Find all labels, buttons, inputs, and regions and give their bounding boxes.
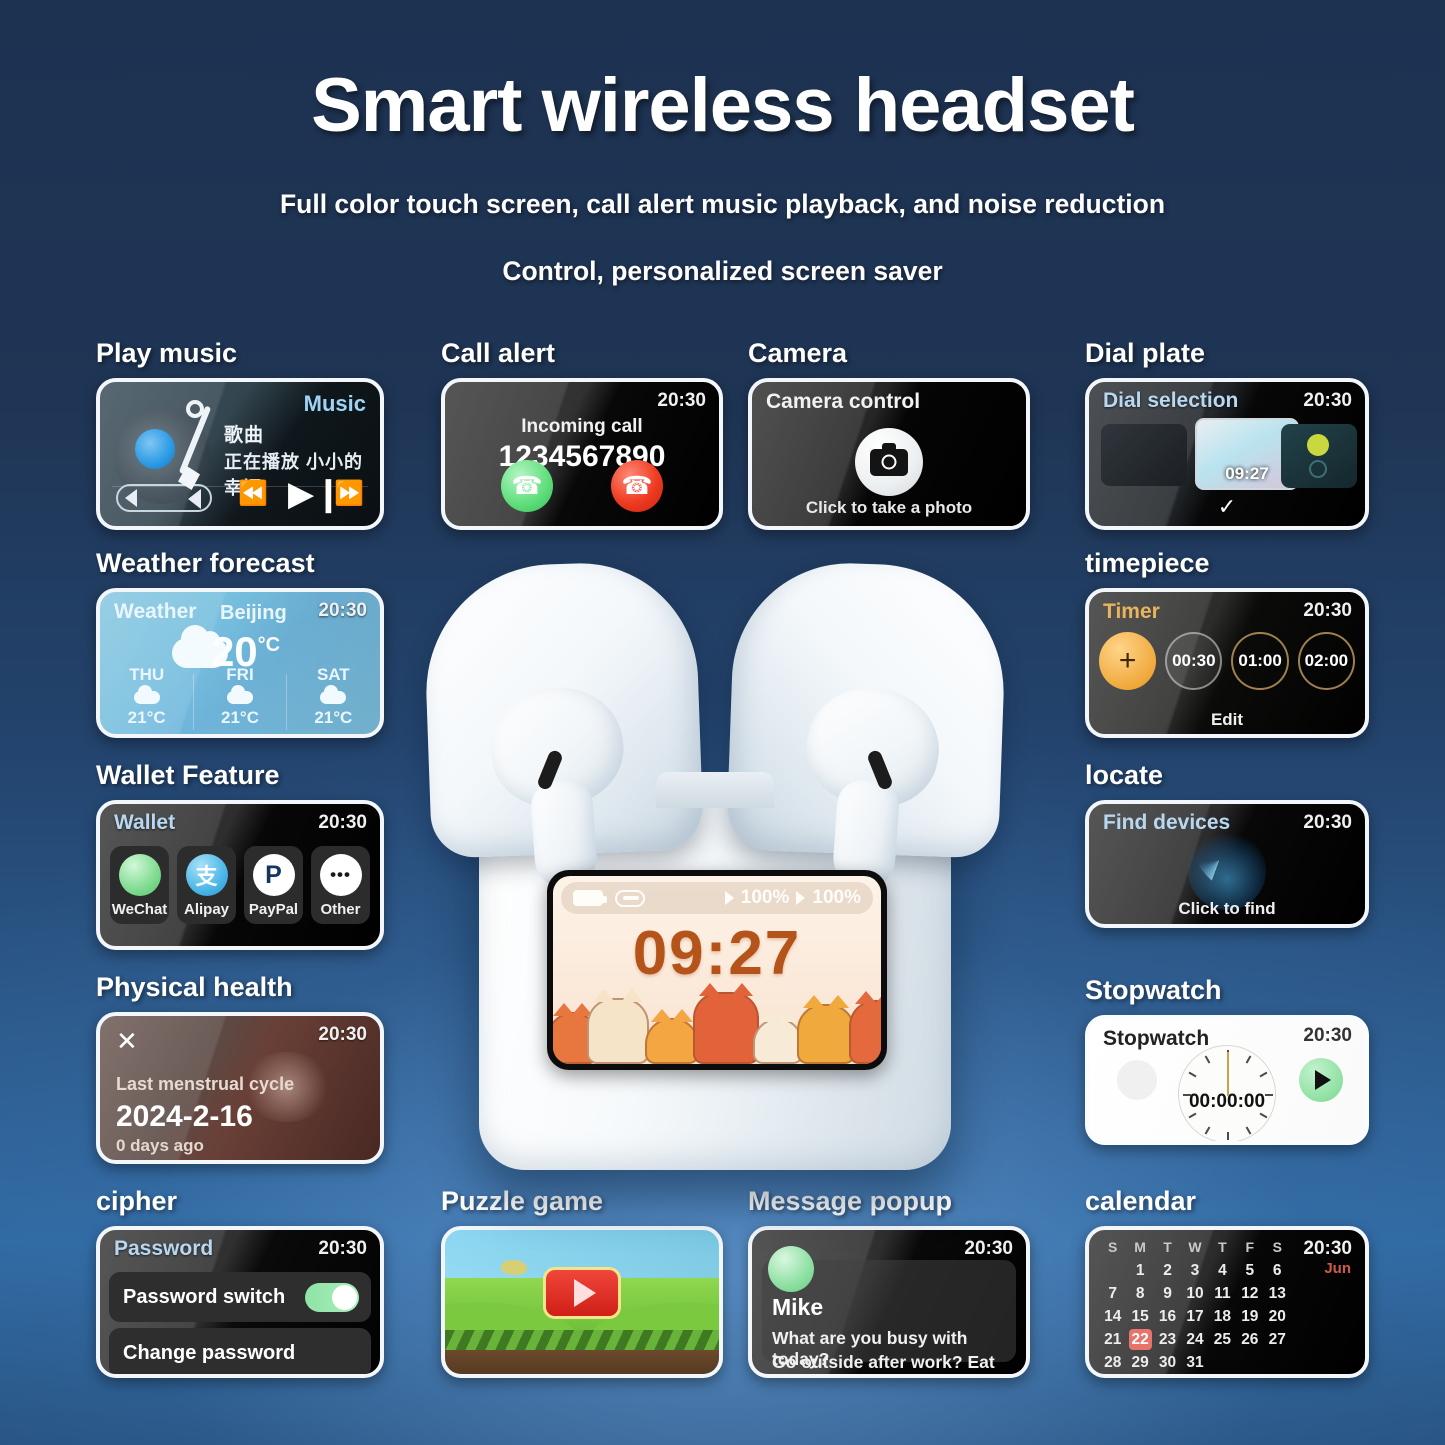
message-sender: Mike <box>772 1294 823 1321</box>
timer-edit-button[interactable]: Edit <box>1089 710 1365 730</box>
calendar-day[interactable]: 3 <box>1181 1259 1208 1282</box>
forecast-day-name: THU <box>100 665 193 685</box>
forecast-day: THU 21°C <box>100 665 193 728</box>
caption-camera: Camera <box>748 338 1030 369</box>
calendar-dow: S <box>1264 1236 1291 1259</box>
password-switch-row[interactable]: Password switch <box>109 1272 371 1322</box>
password-label: Password <box>114 1237 213 1261</box>
calendar-day[interactable]: 11 <box>1209 1282 1236 1305</box>
calendar-day[interactable]: 9 <box>1154 1282 1181 1305</box>
caption-locate: locate <box>1085 760 1369 791</box>
wallet-item-other[interactable]: ••• Other <box>311 846 370 924</box>
feature-physical-health: Physical health ✕ 20:30 Last menstrual c… <box>96 972 384 1164</box>
calendar-day[interactable]: 16 <box>1154 1305 1181 1328</box>
calendar-dow: M <box>1126 1236 1153 1259</box>
battery-icon <box>573 890 603 906</box>
calendar-day[interactable]: 6 <box>1264 1259 1291 1282</box>
caller-number: 1234567890 <box>445 440 719 474</box>
caption-puzzle-game: Puzzle game <box>441 1186 723 1217</box>
password-switch-label: Password switch <box>123 1286 285 1309</box>
forecast-day-temp: 21°C <box>193 708 286 728</box>
screen-locate[interactable]: Find devices 20:30 Click to find <box>1085 800 1369 928</box>
calendar-day[interactable]: 5 <box>1236 1259 1263 1282</box>
calendar-month-badge: Jun <box>1324 1260 1351 1277</box>
calendar-week-row: 123456 <box>1099 1259 1291 1282</box>
previous-icon[interactable]: ⏪ <box>238 479 268 508</box>
dial-title: Dial selection <box>1103 389 1238 413</box>
caption-timepiece: timepiece <box>1085 548 1369 579</box>
stopwatch-label: Stopwatch <box>1103 1027 1209 1051</box>
volume-high-icon <box>188 489 201 509</box>
calendar-day[interactable]: 25 <box>1209 1328 1236 1351</box>
dial-tick <box>1260 1072 1268 1078</box>
phone-hangup-icon[interactable]: ☎ <box>611 460 663 512</box>
header: Smart wireless headset Full color touch … <box>0 0 1445 287</box>
feature-locate: locate Find devices 20:30 Click to find <box>1085 760 1369 928</box>
screen-cipher[interactable]: Password 20:30 Password switch Change pa… <box>96 1226 384 1378</box>
cloud-icon <box>134 691 160 704</box>
subtitle-line-2: Control, personalized screen saver <box>0 256 1445 287</box>
timer-preset-button[interactable]: 01:00 <box>1231 632 1288 690</box>
calendar-week-row: SMTWTFS <box>1099 1236 1291 1259</box>
wallet-items-row: WeChat 支 Alipay P PayPal ••• Other <box>110 846 370 924</box>
dial-tick <box>1246 1127 1252 1135</box>
play-icon[interactable] <box>1299 1058 1343 1102</box>
calendar-day[interactable]: 7 <box>1099 1282 1126 1305</box>
screen-puzzle-game[interactable] <box>441 1226 723 1378</box>
tonearm-pivot-icon <box>186 400 204 418</box>
feature-weather-forecast: Weather forecast Weather Beijing 20:30 2… <box>96 548 384 738</box>
earbud-left-icon <box>725 891 734 905</box>
calendar-day[interactable]: 26 <box>1236 1328 1263 1351</box>
calendar-week-row: 21222324252627 <box>1099 1328 1291 1351</box>
music-label: Music <box>304 391 366 417</box>
calendar-day[interactable]: 15 <box>1126 1305 1153 1328</box>
dial-thumbnail-left[interactable] <box>1101 424 1187 486</box>
calendar-day[interactable]: 8 <box>1126 1282 1153 1305</box>
calendar-grid[interactable]: SMTWTFS123456789101112131415161718192021… <box>1099 1236 1291 1374</box>
wireless-earbuds-case: 100% 100% 09:27 <box>415 560 1015 1180</box>
dial-tick <box>1205 1056 1211 1064</box>
health-days-ago: 0 days ago <box>116 1136 204 1156</box>
health-label: Last menstrual cycle <box>116 1074 294 1095</box>
calendar-day[interactable]: 14 <box>1099 1305 1126 1328</box>
calendar-day[interactable]: 31 <box>1181 1351 1208 1374</box>
feature-dial-plate: Dial plate Dial selection 20:30 09:27 ✓ <box>1085 338 1369 530</box>
forecast-row: THU 21°C FRI 21°C SAT 21°C <box>100 665 380 728</box>
cartoon-cats-wallpaper <box>553 976 881 1064</box>
wallet-item-label: Alipay <box>177 901 236 918</box>
dial-tick <box>1183 1094 1191 1096</box>
battery-right-value: 100% <box>812 887 861 909</box>
calendar-day[interactable]: 30 <box>1154 1351 1181 1374</box>
battery-readouts: 100% 100% <box>725 887 861 909</box>
caption-dial-plate: Dial plate <box>1085 338 1369 369</box>
dial-tick <box>1260 1113 1268 1119</box>
forecast-day-name: FRI <box>193 665 286 685</box>
screen-message-popup[interactable]: 20:30 Mike What are you busy with today?… <box>748 1226 1030 1378</box>
calendar-day[interactable]: 12 <box>1236 1282 1263 1305</box>
calendar-dow: S <box>1099 1236 1126 1259</box>
feature-timepiece: timepiece Timer 20:30 + 00:30 01:00 02:0… <box>1085 548 1369 738</box>
wallet-item-paypal[interactable]: P PayPal <box>244 846 303 924</box>
calendar-day[interactable]: 17 <box>1181 1305 1208 1328</box>
plus-icon[interactable]: + <box>1099 632 1156 690</box>
case-display[interactable]: 100% 100% 09:27 <box>547 870 887 1070</box>
volume-low-icon <box>125 489 137 507</box>
wechat-icon <box>119 854 161 896</box>
temp-unit: °C <box>258 634 280 656</box>
caption-message-popup: Message popup <box>748 1186 1030 1217</box>
subtitle-line-1: Full color touch screen, call alert musi… <box>0 189 1445 220</box>
feature-stopwatch: Stopwatch Stopwatch 20:30 00:00:00 <box>1085 975 1369 1145</box>
cat-sprite-icon <box>849 1000 881 1064</box>
caption-stopwatch: Stopwatch <box>1085 975 1369 1006</box>
cat-sprite-icon <box>797 1004 855 1064</box>
status-clock: 20:30 <box>1303 390 1352 412</box>
wallet-item-wechat[interactable]: WeChat <box>110 846 169 924</box>
status-clock: 20:30 <box>657 390 706 412</box>
wallet-item-label: Other <box>311 901 370 918</box>
status-clock: 20:30 <box>1303 600 1352 622</box>
calendar-day[interactable]: 27 <box>1264 1328 1291 1351</box>
volume-slider[interactable] <box>116 484 212 512</box>
status-clock: 20:30 <box>318 1238 367 1260</box>
caption-call-alert: Call alert <box>441 338 723 369</box>
bird-sprite-icon <box>501 1260 527 1275</box>
phone-answer-icon[interactable]: ☎ <box>501 460 553 512</box>
forecast-day: SAT 21°C <box>287 665 380 728</box>
password-toggle[interactable] <box>305 1283 359 1312</box>
feature-call-alert: Call alert 20:30 Incoming call 123456789… <box>441 338 723 530</box>
caption-weather: Weather forecast <box>96 548 384 579</box>
calendar-day[interactable] <box>1209 1351 1236 1374</box>
stopwatch-dial: 00:00:00 <box>1178 1045 1276 1143</box>
calendar-day[interactable]: 1 <box>1126 1259 1153 1282</box>
calendar-day[interactable]: 20 <box>1264 1305 1291 1328</box>
calendar-day[interactable]: 28 <box>1099 1351 1126 1374</box>
status-clock: 20:30 <box>964 1238 1013 1260</box>
display-status-bar: 100% 100% <box>561 882 873 914</box>
camera-hint: Click to take a photo <box>752 498 1026 518</box>
caption-calendar: calendar <box>1085 1186 1369 1217</box>
calendar-day[interactable]: 4 <box>1209 1259 1236 1282</box>
change-password-row[interactable]: Change password <box>109 1328 371 1378</box>
feature-wallet: Wallet Feature Wallet 20:30 WeChat 支 Ali… <box>96 760 384 950</box>
feature-cipher: cipher Password 20:30 Password switch Ch… <box>96 1186 384 1378</box>
wallet-item-alipay[interactable]: 支 Alipay <box>177 846 236 924</box>
close-icon[interactable]: ✕ <box>116 1028 138 1054</box>
calendar-week-row: 78910111213 <box>1099 1282 1291 1305</box>
stopwatch-needle-icon <box>1227 1052 1229 1096</box>
screen-weather[interactable]: Weather Beijing 20:30 20°C THU 21°C FRI … <box>96 588 384 738</box>
screen-timepiece[interactable]: Timer 20:30 + 00:30 01:00 02:00 Edit <box>1085 588 1369 738</box>
calendar-dow: T <box>1154 1236 1181 1259</box>
dial-dot-icon <box>1307 434 1329 456</box>
calendar-day[interactable] <box>1264 1351 1291 1374</box>
forecast-day: FRI 21°C <box>193 665 286 728</box>
status-clock: 20:30 <box>1303 812 1352 834</box>
calendar-day[interactable]: 2 <box>1154 1259 1181 1282</box>
calendar-day[interactable]: 29 <box>1126 1351 1153 1374</box>
caption-wallet: Wallet Feature <box>96 760 384 791</box>
page-title: Smart wireless headset <box>0 62 1445 149</box>
paypal-icon: P <box>253 854 295 896</box>
status-clock: 20:30 <box>1303 1025 1352 1047</box>
camera-title: Camera control <box>766 390 920 414</box>
dial-ring-icon <box>1309 460 1327 478</box>
camera-lens-icon <box>882 455 897 470</box>
link-icon <box>615 890 645 907</box>
vinyl-center-icon <box>135 429 175 469</box>
display-time: 09:27 <box>553 918 881 989</box>
message-line-2: Go outside after work? Eat corn <box>772 1352 1026 1378</box>
camera-body-icon <box>870 449 908 476</box>
calendar-day[interactable]: 22 <box>1126 1328 1153 1351</box>
calendar-week-row: 28293031 <box>1099 1351 1291 1374</box>
weather-city: Beijing <box>220 602 287 625</box>
battery-left-value: 100% <box>741 887 790 909</box>
screen-stopwatch[interactable]: Stopwatch 20:30 00:00:00 <box>1085 1015 1369 1145</box>
screen-camera[interactable]: Camera control Click to take a photo <box>748 378 1030 530</box>
calendar-dow: F <box>1236 1236 1263 1259</box>
screen-play-music[interactable]: Music 歌曲 正在播放 小小的幸福 ⏪ ▶❙ ⏩ <box>96 378 384 530</box>
wallet-item-label: WeChat <box>110 901 169 918</box>
feature-puzzle-game: Puzzle game <box>441 1186 723 1378</box>
camera-icon[interactable] <box>855 428 923 496</box>
caption-physical-health: Physical health <box>96 972 384 1003</box>
calendar-week-row: 14151617181920 <box>1099 1305 1291 1328</box>
feature-message-popup: Message popup 20:30 Mike What are you bu… <box>748 1186 1030 1378</box>
lap-button-icon[interactable] <box>1117 1060 1157 1100</box>
soil-strip <box>445 1350 719 1374</box>
dial-thumbnail-right[interactable] <box>1281 424 1357 488</box>
calendar-dow: W <box>1181 1236 1208 1259</box>
alipay-icon: 支 <box>186 854 228 896</box>
calendar-day[interactable]: 13 <box>1264 1282 1291 1305</box>
cat-sprite-icon <box>587 998 649 1064</box>
cloud-icon <box>320 691 346 704</box>
change-password-label: Change password <box>123 1342 295 1365</box>
dial-tick <box>1265 1094 1273 1096</box>
calendar-day[interactable]: 24 <box>1181 1328 1208 1351</box>
play-button-icon[interactable] <box>543 1267 621 1319</box>
dial-tick <box>1227 1132 1229 1140</box>
caption-cipher: cipher <box>96 1186 384 1217</box>
screen-call-alert[interactable]: 20:30 Incoming call 1234567890 ☎ ☎ <box>441 378 723 530</box>
timer-label: Timer <box>1103 600 1160 624</box>
timer-preset-button[interactable]: 00:30 <box>1165 632 1222 690</box>
timer-preset-button[interactable]: 02:00 <box>1298 632 1355 690</box>
dial-tick <box>1189 1072 1197 1078</box>
cloud-icon <box>227 691 253 704</box>
check-icon[interactable]: ✓ <box>1218 494 1236 520</box>
screen-calendar[interactable]: 20:30 Jun SMTWTFS12345678910111213141516… <box>1085 1226 1369 1378</box>
calendar-day[interactable]: 23 <box>1154 1328 1181 1351</box>
feature-play-music: Play music Music 歌曲 正在播放 小小的幸福 ⏪ ▶❙ ⏩ <box>96 338 384 530</box>
call-status-text: Incoming call <box>445 416 719 438</box>
case-display-screen[interactable]: 100% 100% 09:27 <box>553 876 881 1064</box>
cat-sprite-icon <box>693 992 759 1064</box>
status-clock: 20:30 <box>318 600 367 622</box>
wallet-label: Wallet <box>114 811 175 835</box>
locate-hint[interactable]: Click to find <box>1089 899 1365 919</box>
forecast-day-temp: 21°C <box>287 708 380 728</box>
screen-physical-health[interactable]: ✕ 20:30 Last menstrual cycle 2024-2-16 0… <box>96 1012 384 1164</box>
health-date: 2024-2-16 <box>116 1100 253 1134</box>
calendar-day[interactable] <box>1236 1351 1263 1374</box>
calendar-day[interactable]: 18 <box>1209 1305 1236 1328</box>
status-clock: 20:30 <box>318 1024 367 1046</box>
wallet-item-label: PayPal <box>244 901 303 918</box>
case-hinge <box>656 772 774 808</box>
screen-wallet[interactable]: Wallet 20:30 WeChat 支 Alipay P PayPal ••… <box>96 800 384 950</box>
dial-preview-time: 09:27 <box>1225 464 1268 484</box>
grass-strip <box>445 1330 719 1352</box>
dial-tick <box>1189 1113 1197 1119</box>
earbud-right-icon <box>796 891 805 905</box>
cat-sprite-icon <box>753 1018 803 1064</box>
next-icon[interactable]: ⏩ <box>334 479 364 508</box>
calendar-day[interactable] <box>1099 1259 1126 1282</box>
timer-presets-row: + 00:30 01:00 02:00 <box>1099 632 1355 690</box>
status-clock: 20:30 <box>1303 1238 1352 1260</box>
feature-camera: Camera Camera control Click to take a ph… <box>748 338 1030 530</box>
dial-tick <box>1205 1127 1211 1135</box>
calendar-dow: T <box>1209 1236 1236 1259</box>
calendar-day[interactable]: 21 <box>1099 1328 1126 1351</box>
calendar-day[interactable]: 10 <box>1181 1282 1208 1305</box>
cat-sprite-icon <box>645 1018 699 1064</box>
forecast-day-name: SAT <box>287 665 380 685</box>
status-clock: 20:30 <box>318 812 367 834</box>
earbud-left <box>487 688 637 878</box>
forecast-day-temp: 21°C <box>100 708 193 728</box>
track-title: 歌曲 <box>224 420 264 447</box>
more-dots-icon: ••• <box>320 854 362 896</box>
calendar-day[interactable]: 19 <box>1236 1305 1263 1328</box>
weather-label: Weather <box>114 600 196 624</box>
earbud-right <box>793 688 943 878</box>
feature-calendar: calendar 20:30 Jun SMTWTFS12345678910111… <box>1085 1186 1369 1378</box>
dial-tick <box>1246 1056 1252 1064</box>
caption-play-music: Play music <box>96 338 384 369</box>
avatar-icon <box>768 1246 814 1292</box>
screen-dial-plate[interactable]: Dial selection 20:30 09:27 ✓ <box>1085 378 1369 530</box>
